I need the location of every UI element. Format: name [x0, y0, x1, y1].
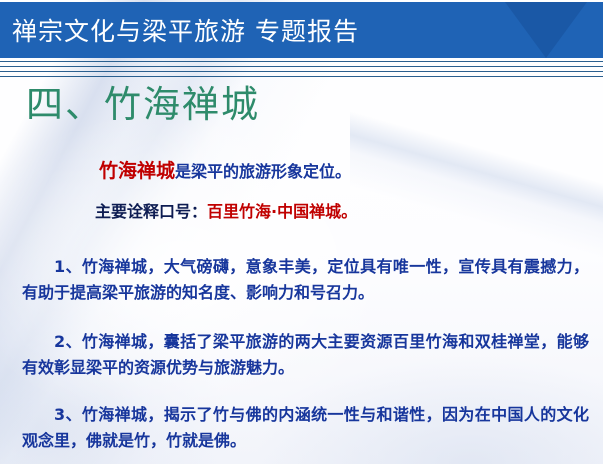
body-paragraph-3: 3、竹海禅城，揭示了竹与佛的内涵统一性与和谐性，因为在中国人的文化观念里，佛就是… — [22, 402, 589, 454]
slide-header-title: 禅宗文化与梁平旅游 专题报告 — [12, 12, 359, 48]
header-rule-2 — [0, 66, 603, 67]
header-rule-group — [0, 58, 603, 80]
triangle-down-icon — [505, 2, 587, 58]
section-heading: 四、竹海禅城 — [26, 82, 260, 127]
lead-line-definition: 竹海禅城是梁平的旅游形象定位。 — [99, 157, 351, 186]
presentation-slide: 禅宗文化与梁平旅游 专题报告 四、竹海禅城 竹海禅城是梁平的旅游形象定位。 主要… — [0, 0, 603, 464]
slogan-label: 主要诠释口号： — [95, 202, 207, 221]
header-rule-3 — [0, 71, 603, 72]
body-paragraph-2: 2、竹海禅城，囊括了梁平旅游的两大主要资源百里竹海和双桂禅堂，能够有效彰显梁平的… — [22, 329, 589, 381]
body-paragraph-1: 1、竹海禅城，大气磅礴，意象丰美，定位具有唯一性，宣传具有震撼力，有助于提高梁平… — [22, 254, 589, 306]
lead-line-slogan: 主要诠释口号：百里竹海·中国禅城。 — [95, 200, 357, 224]
slide-header-bar: 禅宗文化与梁平旅游 专题报告 — [0, 2, 603, 58]
lead-highlight-term: 竹海禅城 — [99, 160, 175, 182]
lead-definition-text: 是梁平的旅游形象定位。 — [175, 162, 351, 181]
header-rule-4 — [0, 76, 603, 77]
slogan-text: 百里竹海·中国禅城。 — [207, 202, 357, 221]
header-rule-1 — [0, 61, 603, 62]
